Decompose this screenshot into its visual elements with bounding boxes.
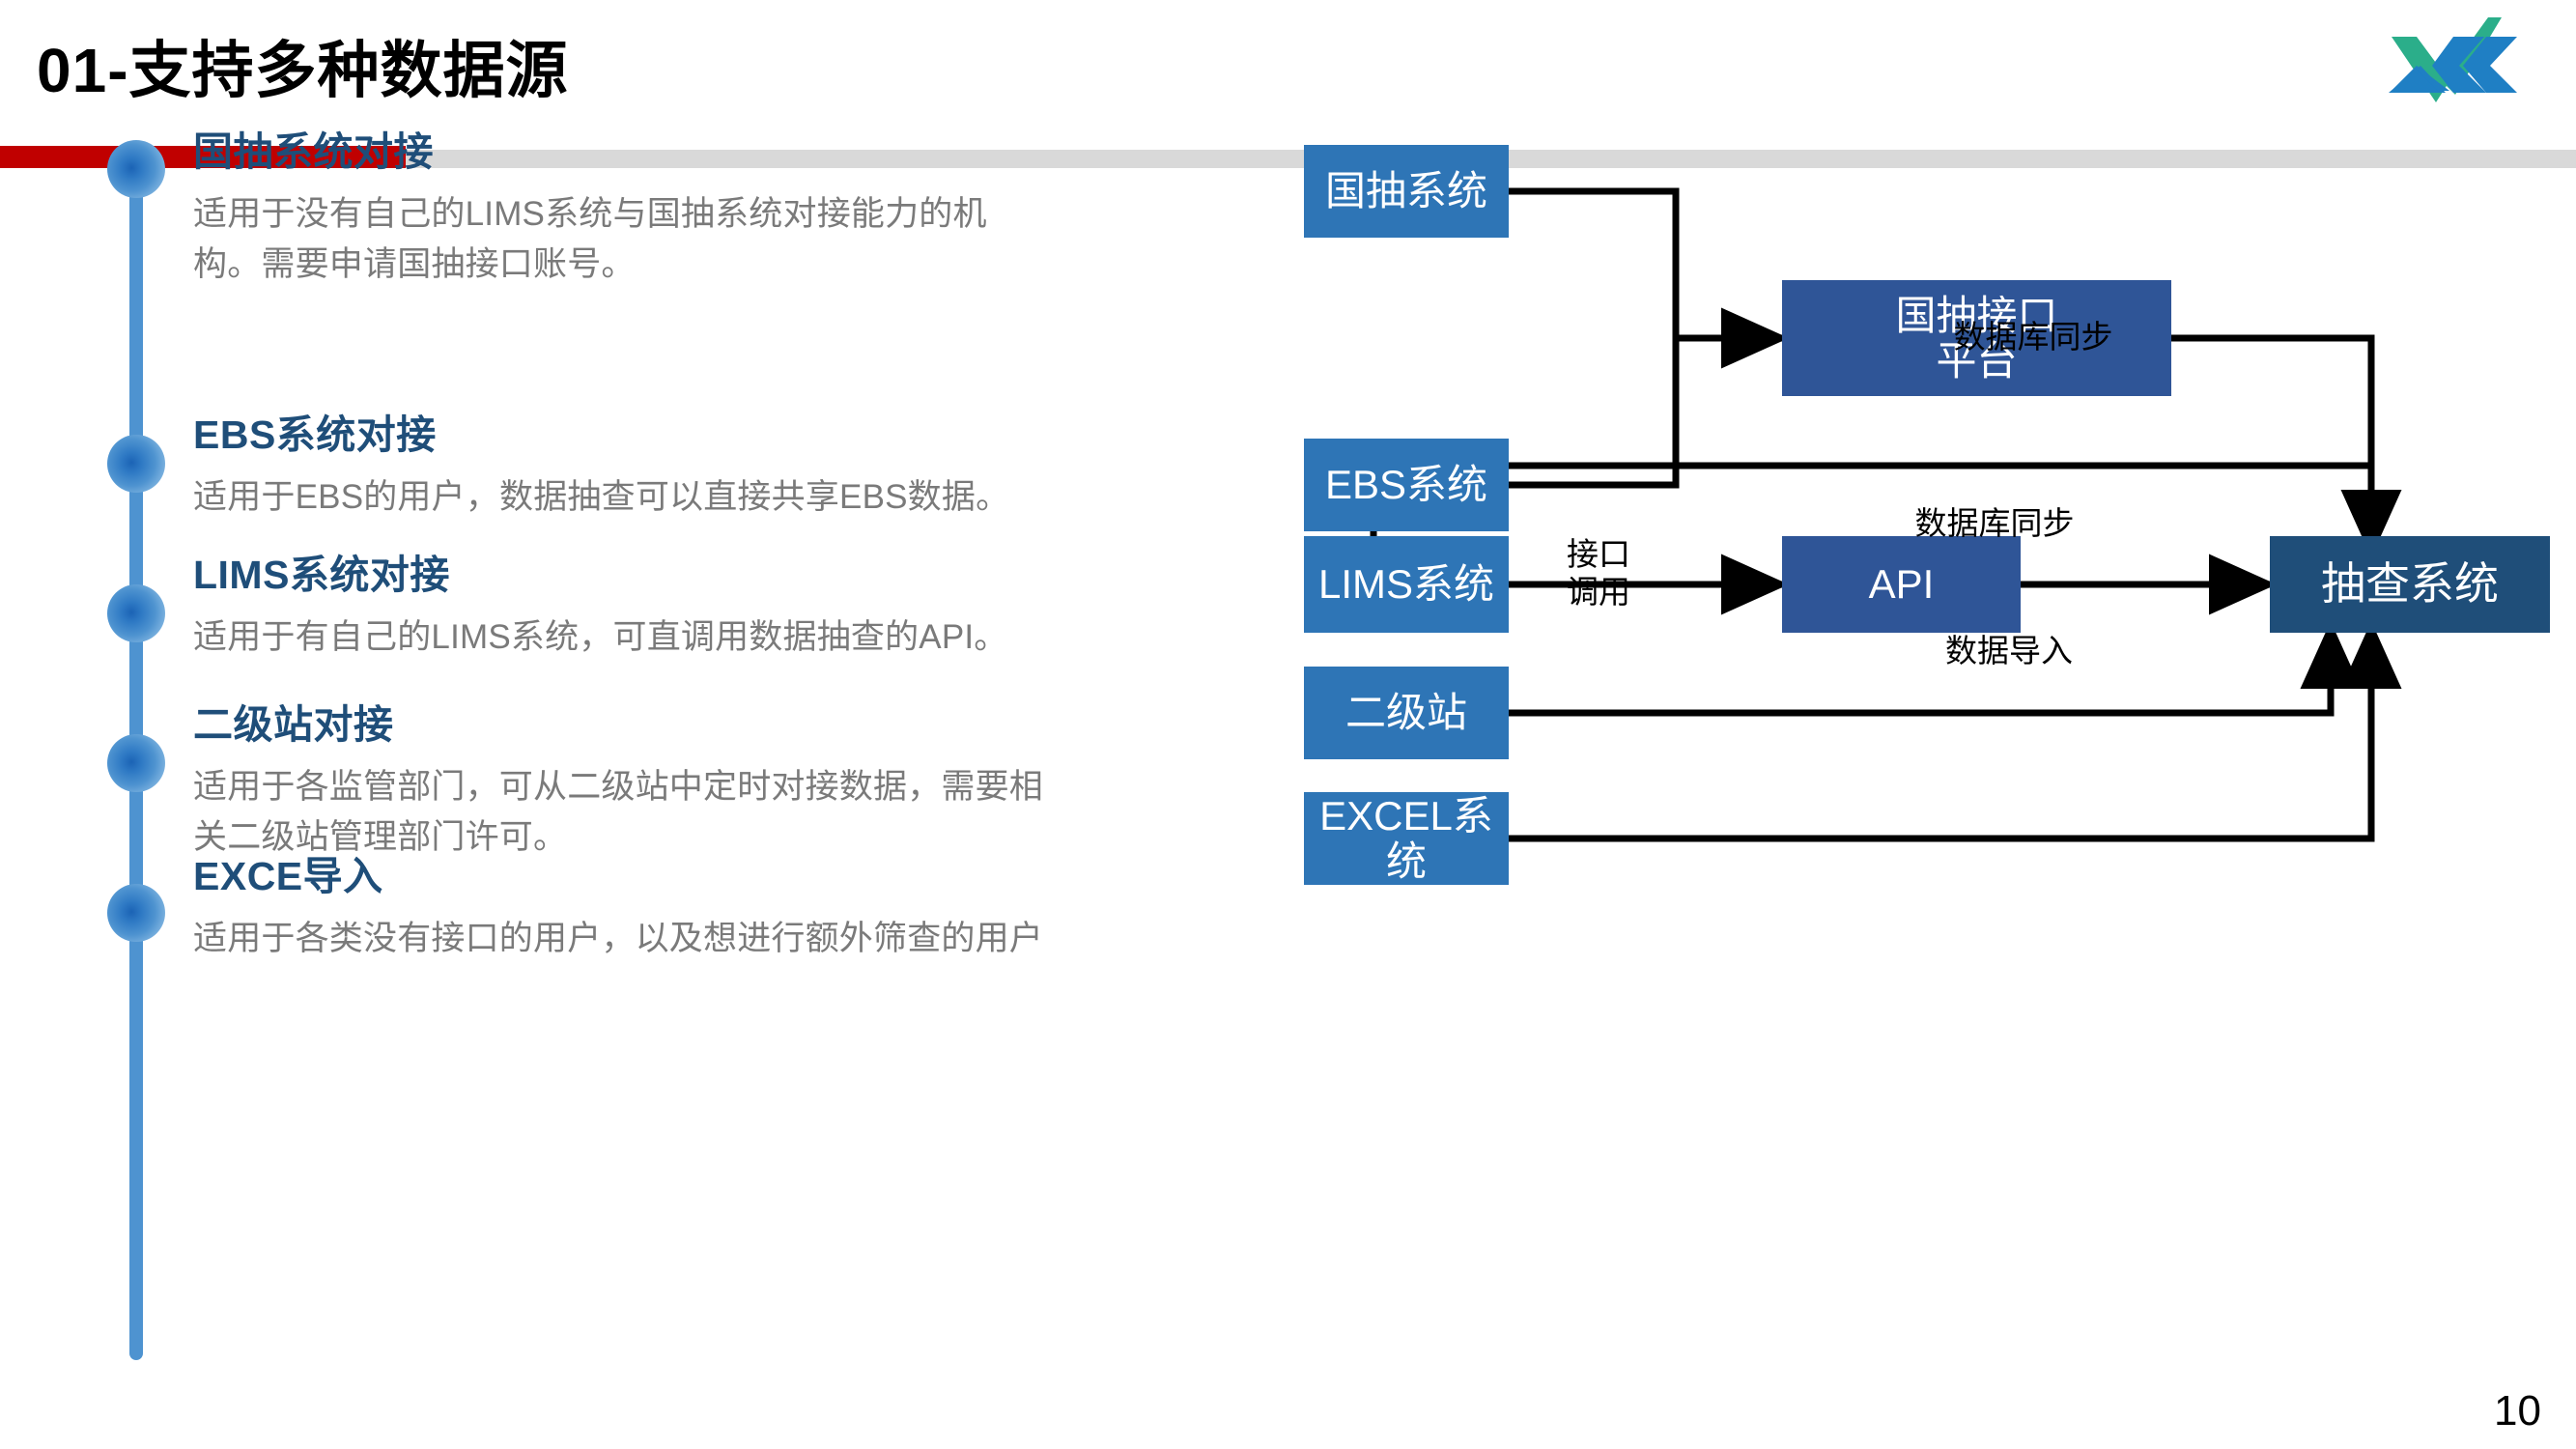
diagram-node-ebs-system[interactable]: EBS系统 [1304,439,1509,531]
timeline-item-desc: 适用于各监管部门，可从二级站中定时对接数据，需要相关二级站管理部门许可。 [193,762,1043,863]
diagram-node-api[interactable]: API [1782,536,2021,633]
page-title: 01-支持多种数据源 [37,21,569,110]
architecture-diagram: 国抽系统 EBS系统 国抽接口 平台 LIMS系统 API 抽查系统 二级站 E… [1304,145,2550,1304]
edge-label-db-sync-top: 数据库同步 [1874,319,2193,356]
brand-logo: 北京信睿 [2357,10,2531,126]
timeline-item-title: 二级站对接 [193,703,1246,747]
timeline-dot-icon [107,140,165,198]
edge-label-db-sync-bottom: 数据库同步 [1835,505,2154,543]
timeline-item-title: EXCE导入 [193,855,1246,898]
brand-logo-mark [2357,10,2531,126]
diagram-node-excel-system[interactable]: EXCEL系统 [1304,792,1509,885]
timeline-dot-icon [107,884,165,942]
diagram-node-level2-station[interactable]: 二级站 [1304,667,1509,759]
page-number: 10 [2494,1387,2541,1435]
timeline-item-desc: 适用于EBS的用户，数据抽查可以直接共享EBS数据。 [193,472,1159,523]
timeline-dot-icon [107,734,165,792]
timeline-item-desc: 适用于有自己的LIMS系统，可直调用数据抽查的API。 [193,612,1043,663]
diagram-node-gc-system[interactable]: 国抽系统 [1304,145,1509,238]
timeline-item-title: LIMS系统对接 [193,554,1246,597]
edge-label-api-call: 接口 调用 [1536,536,1661,611]
timeline-item-desc: 适用于没有自己的LIMS系统与国抽系统对接能力的机构。需要申请国抽接口账号。 [193,189,1043,290]
timeline-item-desc: 适用于各类没有接口的用户，以及想进行额外筛查的用户 [193,914,1043,964]
timeline-item-title: 国抽系统对接 [193,130,1246,174]
diagram-node-lims-system[interactable]: LIMS系统 [1304,536,1509,633]
timeline-dot-icon [107,435,165,493]
edge-label-data-import: 数据导入 [1850,633,2168,670]
timeline-dot-icon [107,584,165,642]
diagram-node-sampling-system[interactable]: 抽查系统 [2270,536,2550,633]
timeline-item-title: EBS系统对接 [193,413,1246,457]
timeline: 国抽系统对接 适用于没有自己的LIMS系统与国抽系统对接能力的机构。需要申请国抽… [58,140,1246,1415]
